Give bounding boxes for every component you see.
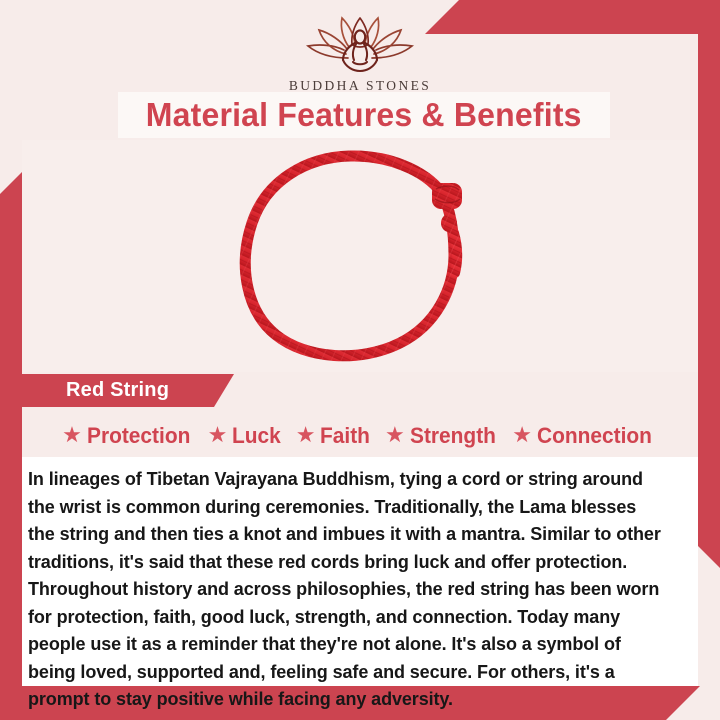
- star-icon: ★: [512, 424, 532, 446]
- feature-label: Luck: [232, 423, 281, 449]
- brand-logo: BUDDHA STONES: [0, 14, 720, 94]
- product-name: Red String: [66, 379, 169, 402]
- product-image-area: [22, 140, 698, 372]
- page-title: Material Features & Benefits: [146, 96, 582, 134]
- feature-label: Protection: [87, 423, 190, 449]
- feature-label: Connection: [537, 423, 652, 449]
- red-braided-bracelet-image: [210, 141, 510, 371]
- feature-list: ★ Protection ★ Luck ★ Faith ★ Strength ★…: [22, 415, 698, 457]
- star-icon: ★: [385, 424, 405, 446]
- feature-item: ★ Protection: [57, 423, 201, 449]
- star-icon: ★: [208, 424, 228, 446]
- star-icon: ★: [62, 424, 82, 446]
- lotus-meditation-icon: [302, 14, 418, 76]
- product-name-ribbon: Red String: [22, 374, 234, 407]
- description-panel: In lineages of Tibetan Vajrayana Buddhis…: [22, 457, 698, 686]
- description-text: In lineages of Tibetan Vajrayana Buddhis…: [28, 465, 666, 713]
- feature-item: ★ Strength: [380, 423, 505, 449]
- feature-label: Faith: [320, 423, 370, 449]
- poster-root: BUDDHA STONES Material Features & Benefi…: [0, 0, 720, 720]
- feature-item: ★ Luck: [203, 423, 289, 449]
- feature-item: ★ Faith: [291, 423, 378, 449]
- bracelet-knot: [432, 183, 462, 232]
- page-title-panel: Material Features & Benefits: [118, 92, 610, 138]
- feature-label: Strength: [410, 423, 496, 449]
- feature-item: ★ Connection: [507, 423, 663, 449]
- star-icon: ★: [296, 424, 316, 446]
- decorative-band-left: [0, 172, 22, 720]
